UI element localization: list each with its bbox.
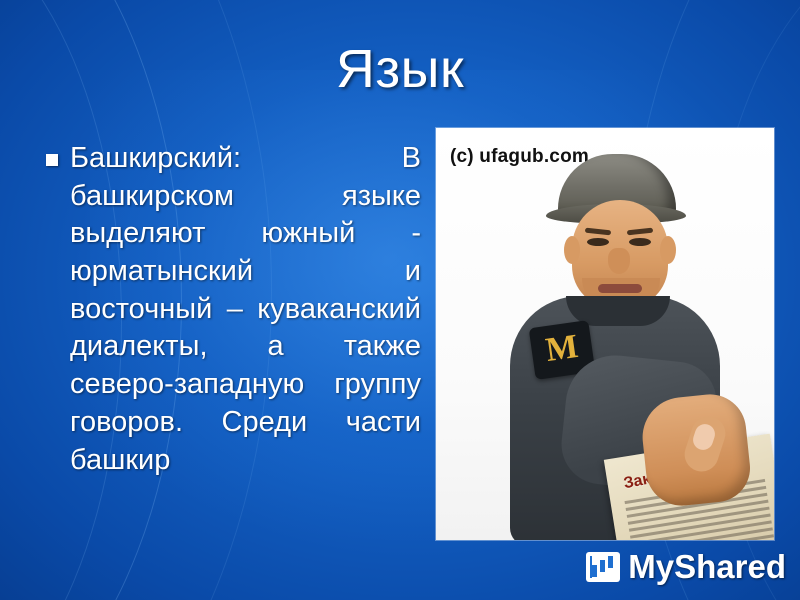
caricature-figure: M Закон о языке — [436, 128, 774, 540]
eye-left — [587, 238, 609, 246]
badge-letter: M — [536, 327, 589, 371]
myshared-chart-icon — [586, 552, 620, 582]
presentation-slide: Язык Башкирский: В башкирском языке выде… — [0, 0, 800, 600]
mouth — [598, 284, 642, 293]
square-bullet-icon — [46, 154, 58, 166]
slide-image: (c) ufagub.com M Закон о языке — [436, 128, 774, 540]
bullet-item: Башкирский: В башкирском языке выделяют … — [46, 140, 421, 479]
slide-body: Башкирский: В башкирском языке выделяют … — [46, 140, 421, 479]
myshared-logo: MyShared — [586, 548, 786, 586]
myshared-logo-text: MyShared — [628, 548, 786, 586]
ear-left — [564, 236, 580, 264]
eye-right — [629, 238, 651, 246]
slide-title: Язык — [0, 40, 800, 99]
bullet-text: Башкирский: В башкирском языке выделяют … — [70, 140, 421, 479]
nose — [608, 248, 630, 274]
ear-right — [660, 236, 676, 264]
